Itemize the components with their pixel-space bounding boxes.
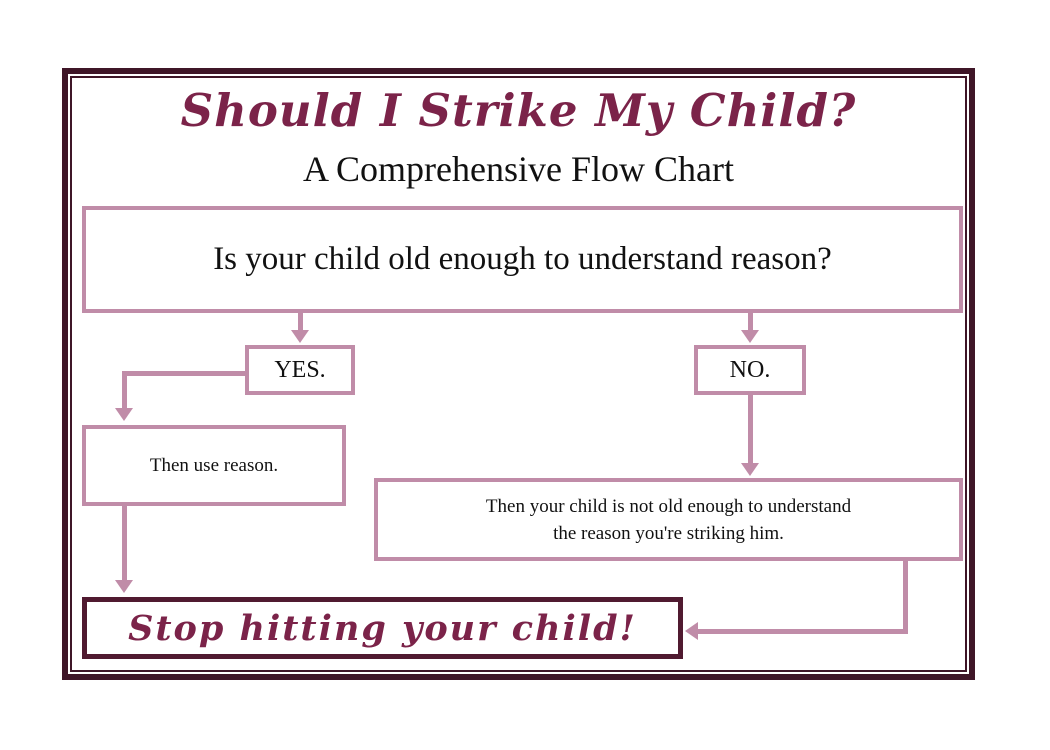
edge-not-old-enough-to-stop-horizontal [698,629,908,634]
flowchart-poster: Should I Strike My Child? A Comprehensiv… [0,0,1050,750]
edge-yes-to-use-reason-horizontal [122,371,248,376]
flow-node-use-reason: Then use reason. [82,425,346,506]
flow-node-stop: Stop hitting your child! [82,597,683,659]
edge-use-reason-to-stop-arrowhead [115,580,133,593]
edge-no-to-not-old-enough-line [748,395,753,465]
page-title: Should I Strike My Child? [70,86,967,136]
edge-question-to-yes-arrowhead [291,330,309,343]
flow-node-use-reason-label: Then use reason. [150,455,278,477]
flow-node-no-label: NO. [730,357,771,384]
flow-node-question: Is your child old enough to understand r… [82,206,963,313]
flow-node-yes-label: YES. [274,357,325,384]
flow-node-stop-label: Stop hitting your child! [128,608,637,649]
edge-question-to-no-arrowhead [741,330,759,343]
edge-yes-to-use-reason-vertical [122,371,127,410]
edge-no-to-not-old-enough-arrowhead [741,463,759,476]
edge-use-reason-to-stop-line [122,506,127,582]
edge-not-old-enough-to-stop-arrowhead [685,622,698,640]
flow-node-not-old-enough-line2: the reason you're striking him. [486,520,851,547]
page-subtitle: A Comprehensive Flow Chart [70,148,967,190]
flow-node-not-old-enough: Then your child is not old enough to und… [374,478,963,561]
edge-not-old-enough-to-stop-vertical [903,561,908,632]
edge-yes-to-use-reason-arrowhead [115,408,133,421]
flow-node-yes: YES. [245,345,355,395]
flow-node-not-old-enough-line1: Then your child is not old enough to und… [486,493,851,520]
flow-node-question-label: Is your child old enough to understand r… [213,241,832,278]
flow-node-no: NO. [694,345,806,395]
